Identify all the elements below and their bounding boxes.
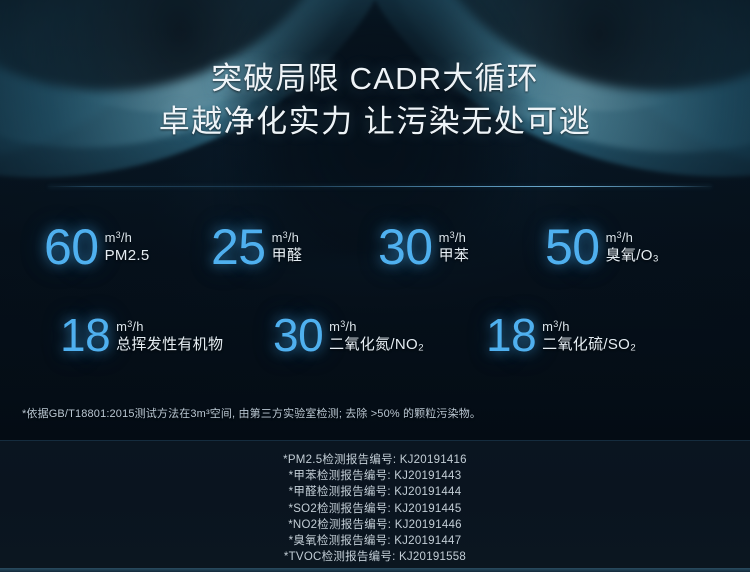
spec-meta: m3/h 甲醛 <box>272 222 303 265</box>
spec-meta: m3/h 甲苯 <box>439 222 470 265</box>
spec-item-ozone: 50 m3/h 臭氧/O₃ <box>545 222 712 272</box>
spec-item-formaldehyde: 25 m3/h 甲醛 <box>211 222 378 272</box>
spec-meta: m3/h 总挥发性有机物 <box>116 312 223 354</box>
spec-label: 甲醛 <box>272 246 303 265</box>
spec-label: 二氧化硫/SO₂ <box>542 335 636 354</box>
spec-label: 总挥发性有机物 <box>116 335 223 354</box>
spec-item-so2: 18 m3/h 二氧化硫/SO₂ <box>486 312 699 359</box>
spec-row-2: 18 m3/h 总挥发性有机物 30 m3/h 二氧化氮/NO₂ 18 m3/h… <box>60 312 700 359</box>
spec-value: 30 <box>273 312 323 359</box>
spec-value: 25 <box>211 222 266 272</box>
spec-value: 18 <box>486 312 536 359</box>
spec-meta: m3/h PM2.5 <box>105 222 150 265</box>
spec-meta: m3/h 二氧化氮/NO₂ <box>329 312 424 354</box>
test-method-footnote: *依据GB/T18801:2015测试方法在3m³空间, 由第三方实验室检测; … <box>22 407 481 422</box>
spec-label: PM2.5 <box>105 246 150 265</box>
report-line: *SO2检测报告编号: KJ20191445 <box>0 501 750 517</box>
headline: 突破局限 CADR大循环 卓越净化实力 让污染无处可逃 <box>0 57 750 143</box>
spec-unit: m3/h <box>542 316 636 335</box>
spec-unit: m3/h <box>606 227 659 246</box>
spec-label: 甲苯 <box>439 246 470 265</box>
spec-item-tvoc: 18 m3/h 总挥发性有机物 <box>60 312 273 359</box>
spec-value: 60 <box>44 222 99 272</box>
spec-unit: m3/h <box>329 316 424 335</box>
report-numbers-panel: *PM2.5检测报告编号: KJ20191416 *甲苯检测报告编号: KJ20… <box>0 440 750 568</box>
report-line: *TVOC检测报告编号: KJ20191558 <box>0 549 750 565</box>
spec-row-1: 60 m3/h PM2.5 25 m3/h 甲醛 30 m3/h 甲苯 50 m… <box>44 222 714 272</box>
spec-meta: m3/h 二氧化硫/SO₂ <box>542 312 636 354</box>
spec-unit: m3/h <box>439 227 470 246</box>
bottom-edge-strip <box>0 568 750 572</box>
report-line: *PM2.5检测报告编号: KJ20191416 <box>0 452 750 468</box>
report-line: *臭氧检测报告编号: KJ20191447 <box>0 533 750 549</box>
product-spec-banner: 突破局限 CADR大循环 卓越净化实力 让污染无处可逃 60 m3/h PM2.… <box>0 0 750 572</box>
spec-unit: m3/h <box>272 227 303 246</box>
report-line: *甲醛检测报告编号: KJ20191444 <box>0 484 750 500</box>
section-divider <box>48 186 712 187</box>
spec-item-toluene: 30 m3/h 甲苯 <box>378 222 545 272</box>
spec-value: 30 <box>378 222 433 272</box>
spec-unit: m3/h <box>105 227 150 246</box>
headline-line-2: 卓越净化实力 让污染无处可逃 <box>0 100 750 143</box>
spec-value: 18 <box>60 312 110 359</box>
spec-value: 50 <box>545 222 600 272</box>
spec-item-pm25: 60 m3/h PM2.5 <box>44 222 211 272</box>
report-line: *甲苯检测报告编号: KJ20191443 <box>0 468 750 484</box>
spec-item-no2: 30 m3/h 二氧化氮/NO₂ <box>273 312 486 359</box>
spec-label: 二氧化氮/NO₂ <box>329 335 424 354</box>
spec-meta: m3/h 臭氧/O₃ <box>606 222 659 265</box>
report-line: *NO2检测报告编号: KJ20191446 <box>0 517 750 533</box>
spec-label: 臭氧/O₃ <box>606 246 659 265</box>
spec-unit: m3/h <box>116 316 223 335</box>
headline-line-1: 突破局限 CADR大循环 <box>0 57 750 100</box>
